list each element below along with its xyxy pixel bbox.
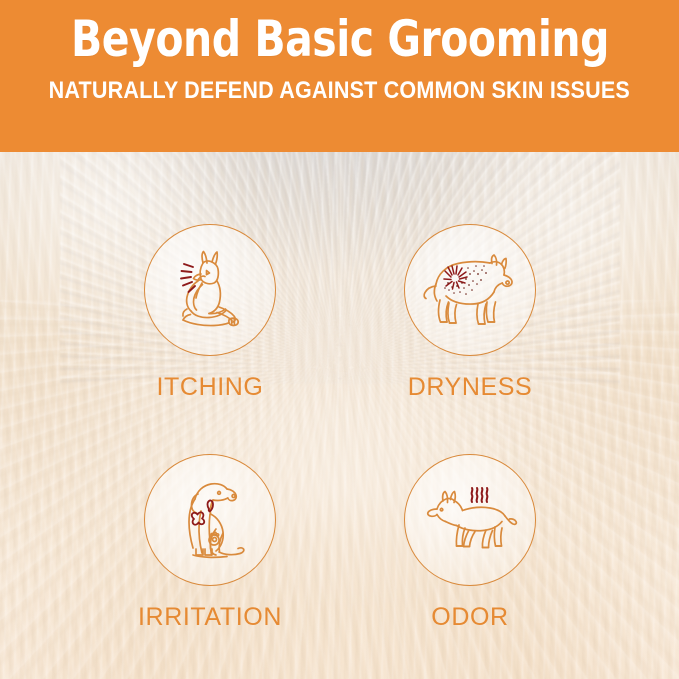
benefit-item-itching: ITCHING: [90, 224, 330, 402]
benefits-grid: ITCHING: [0, 152, 679, 679]
dog-scratching-icon: [157, 237, 263, 343]
benefit-label-odor: ODOR: [431, 603, 508, 632]
benefit-label-dryness: DRYNESS: [408, 373, 533, 402]
benefit-label-irritation: IRRITATION: [138, 603, 282, 632]
dog-irritated-patch-icon: [157, 467, 263, 573]
page-subtitle: NATURALLY DEFEND AGAINST COMMON SKIN ISS…: [49, 77, 630, 105]
benefit-item-odor: ODOR: [350, 454, 590, 632]
page-title: Beyond Basic Grooming: [71, 14, 609, 65]
benefit-item-irritation: IRRITATION: [90, 454, 330, 632]
poster-root: Beyond Basic Grooming NATURALLY DEFEND A…: [0, 0, 679, 679]
benefit-circle-dryness: [404, 224, 536, 356]
benefit-circle-odor: [404, 454, 536, 586]
dog-odor-icon: [415, 465, 525, 575]
benefit-item-dryness: DRYNESS: [350, 224, 590, 402]
benefit-circle-irritation: [144, 454, 276, 586]
benefit-circle-itching: [144, 224, 276, 356]
benefit-label-itching: ITCHING: [157, 373, 264, 402]
header-banner: Beyond Basic Grooming NATURALLY DEFEND A…: [0, 0, 679, 152]
dog-dandruff-icon: [416, 236, 524, 344]
